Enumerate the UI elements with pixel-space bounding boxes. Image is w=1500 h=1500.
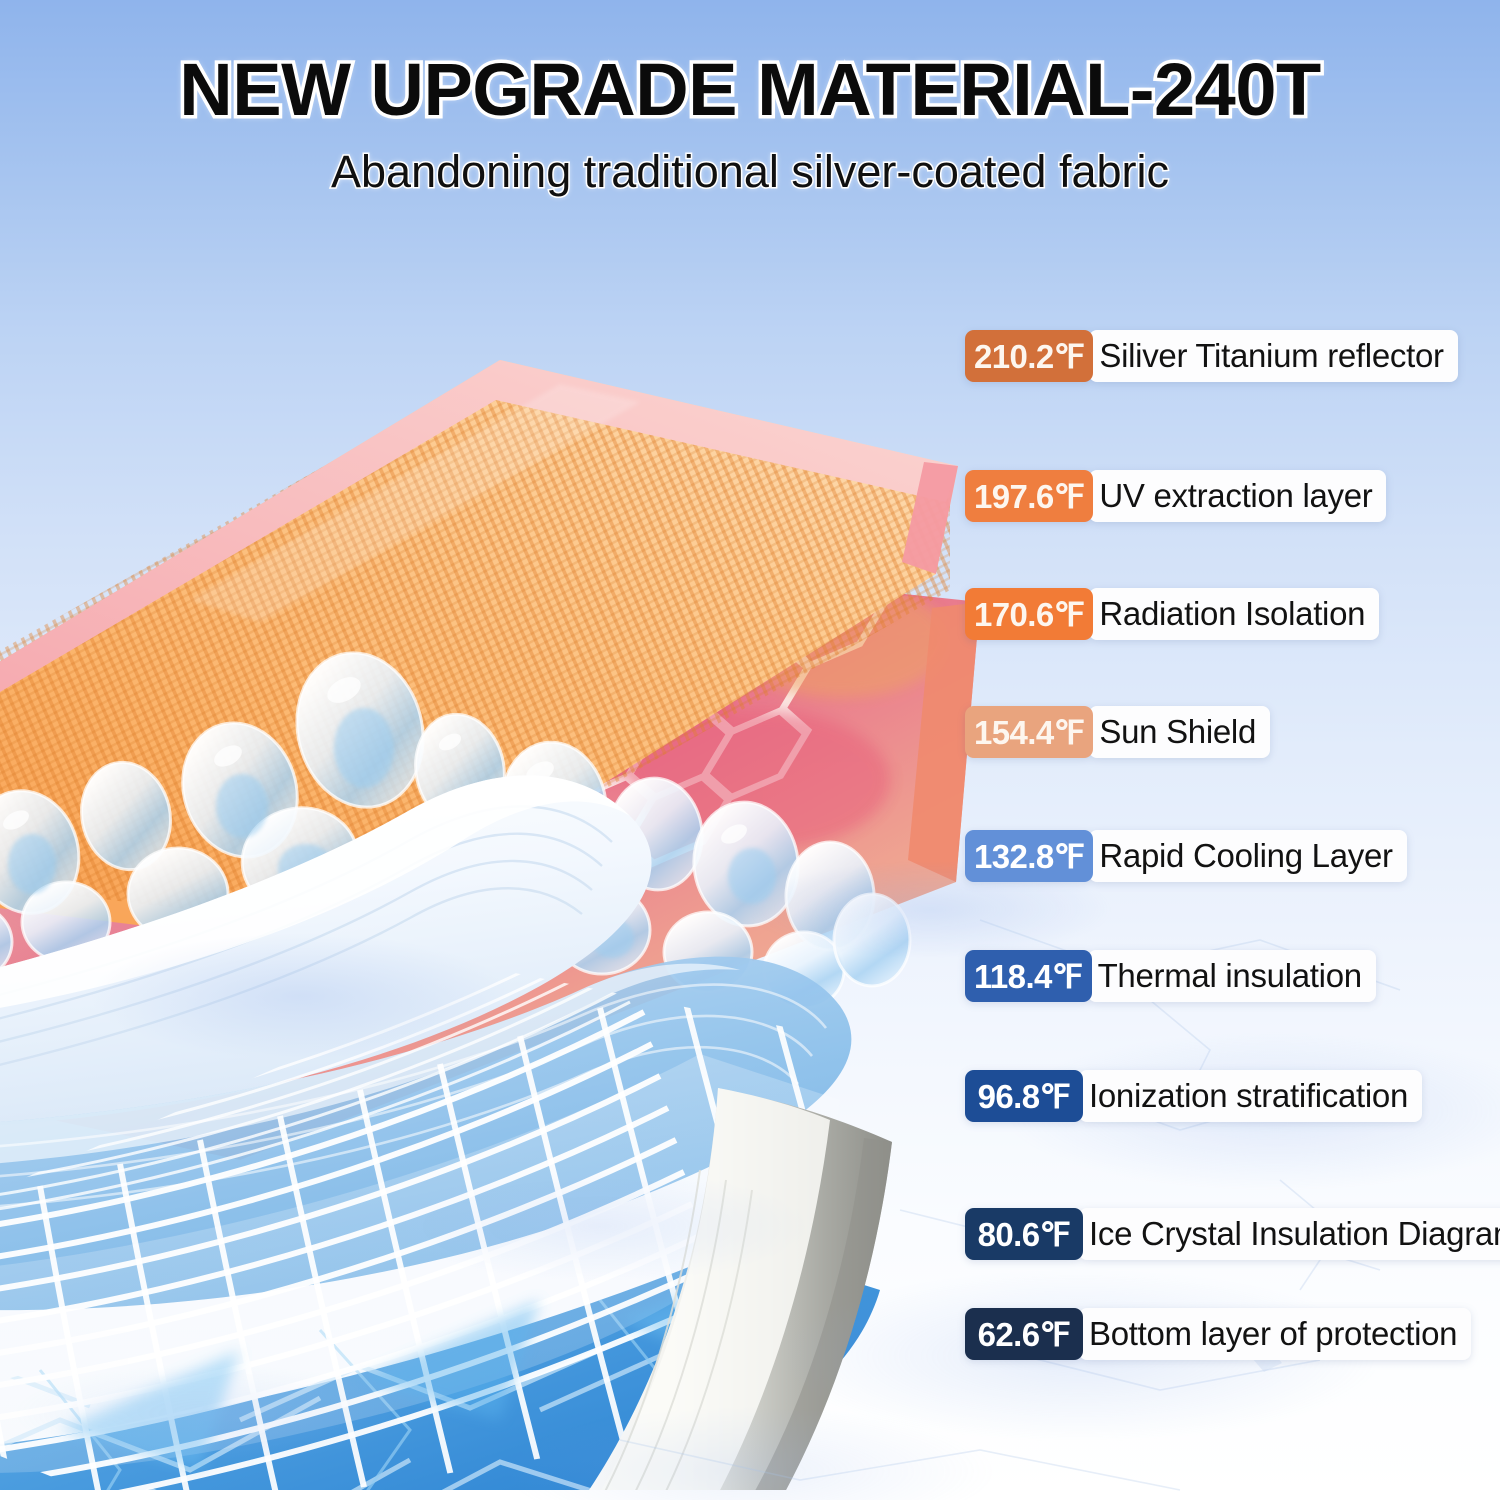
layer-name-label: Radiation Isolation bbox=[1089, 588, 1379, 640]
layer-row: 118.4℉Thermal insulation bbox=[965, 950, 1376, 1002]
temperature-badge: 170.6℉ bbox=[965, 588, 1093, 640]
header: NEW UPGRADE MATERIAL-240T Abandoning tra… bbox=[0, 0, 1500, 198]
layer-row: 80.6℉Ice Crystal Insulation Diagram bbox=[965, 1208, 1500, 1260]
temperature-badge: 154.4℉ bbox=[965, 706, 1093, 758]
temperature-badge: 197.6℉ bbox=[965, 470, 1093, 522]
layer-name-label: Ice Crystal Insulation Diagram bbox=[1079, 1208, 1500, 1260]
layer-name-label: Rapid Cooling Layer bbox=[1089, 830, 1406, 882]
layer-row: 132.8℉Rapid Cooling Layer bbox=[965, 830, 1407, 882]
layer-name-label: Ionization stratification bbox=[1079, 1070, 1422, 1122]
layer-row: 154.4℉Sun Shield bbox=[965, 706, 1270, 758]
layer-row: 96.8℉Ionization stratification bbox=[965, 1070, 1422, 1122]
page-subtitle: Abandoning traditional silver-coated fab… bbox=[0, 146, 1500, 198]
layer-name-label: Thermal insulation bbox=[1088, 950, 1376, 1002]
layer-row: 197.6℉UV extraction layer bbox=[965, 470, 1386, 522]
temperature-badge: 210.2℉ bbox=[965, 330, 1093, 382]
layer-row: 62.6℉Bottom layer of protection bbox=[965, 1308, 1471, 1360]
layer-name-label: Bottom layer of protection bbox=[1079, 1308, 1471, 1360]
temperature-badge: 132.8℉ bbox=[965, 830, 1093, 882]
fabric-layers-illustration bbox=[0, 170, 1000, 1490]
page-title: NEW UPGRADE MATERIAL-240T bbox=[0, 47, 1500, 132]
layer-name-label: Sun Shield bbox=[1089, 706, 1270, 758]
temperature-badge: 96.8℉ bbox=[965, 1070, 1083, 1122]
product-infographic: NEW UPGRADE MATERIAL-240T Abandoning tra… bbox=[0, 0, 1500, 1500]
layer-row: 210.2℉Siliver Titanium reflector bbox=[965, 330, 1458, 382]
layer-row: 170.6℉Radiation Isolation bbox=[965, 588, 1379, 640]
temperature-badge: 118.4℉ bbox=[965, 950, 1092, 1002]
temperature-badge: 80.6℉ bbox=[965, 1208, 1083, 1260]
layer-name-label: Siliver Titanium reflector bbox=[1089, 330, 1457, 382]
temperature-badge: 62.6℉ bbox=[965, 1308, 1083, 1360]
layer-name-label: UV extraction layer bbox=[1089, 470, 1386, 522]
